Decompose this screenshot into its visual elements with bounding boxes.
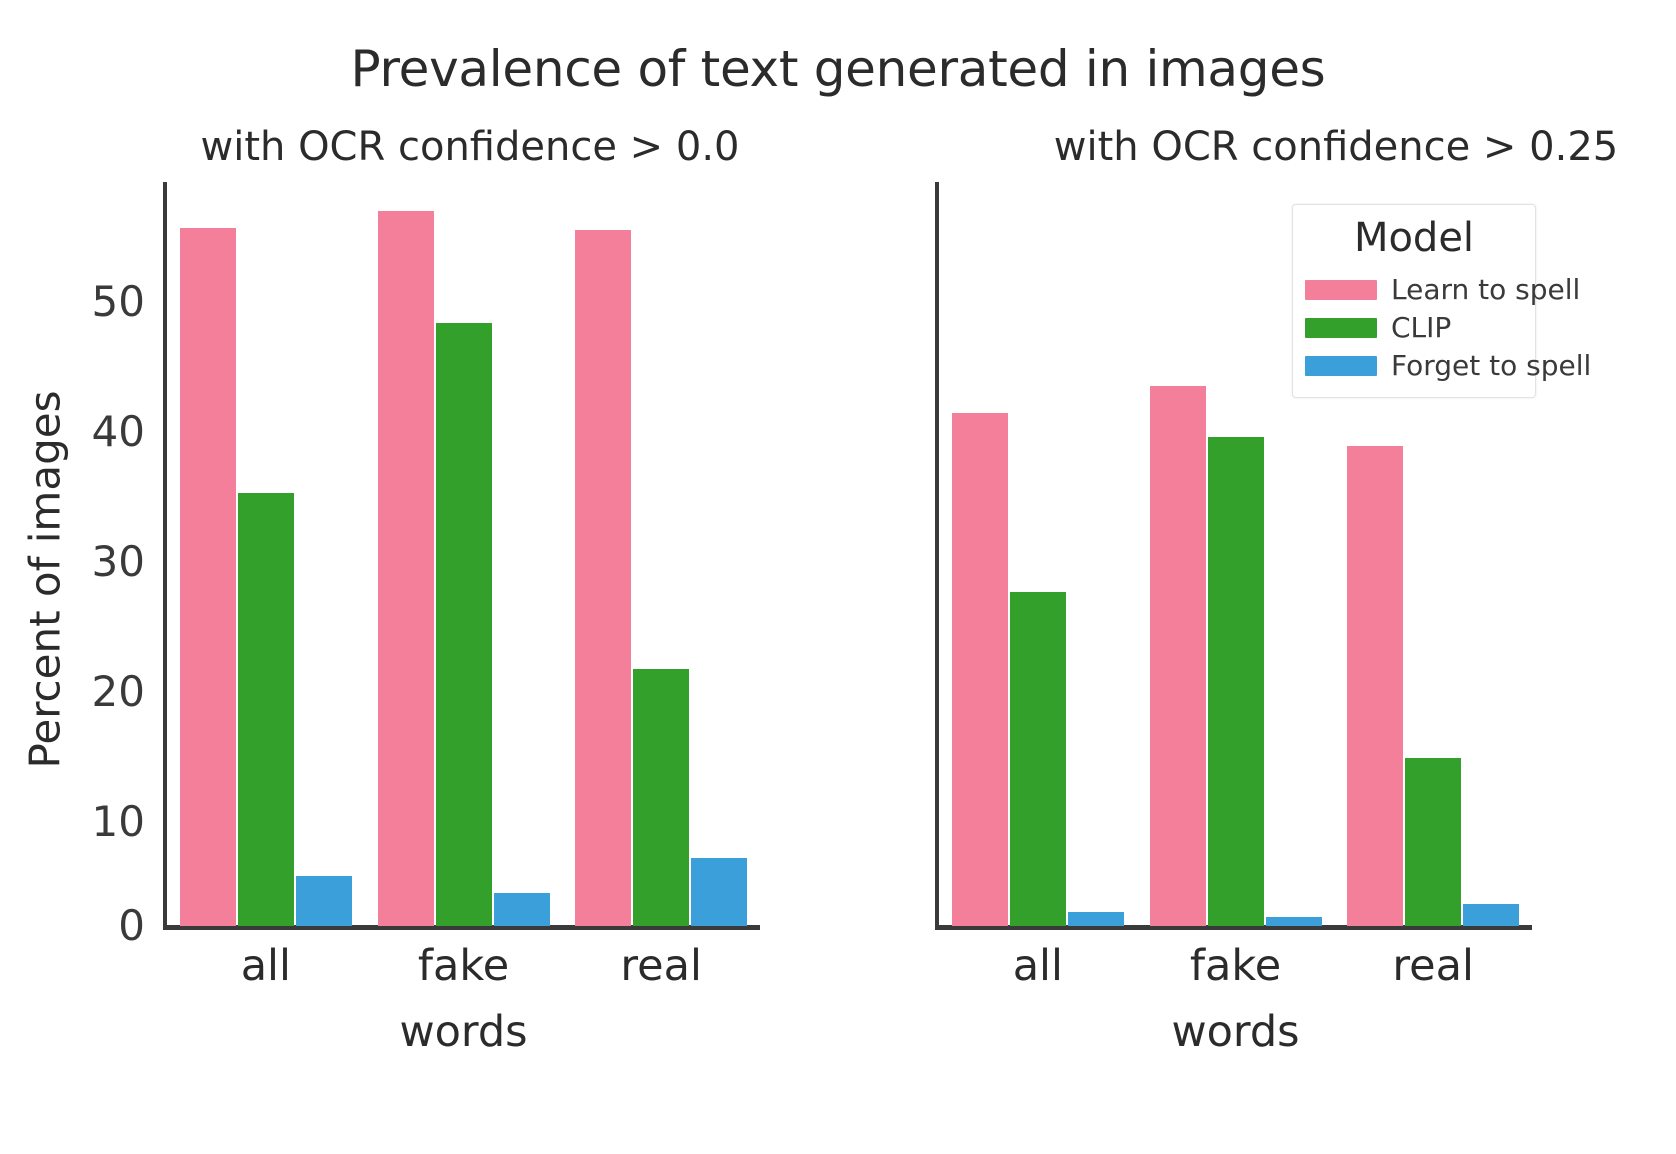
subplot-left: with OCR confidence > 0.0 50 40 30 20 10… (0, 0, 840, 1154)
x-tick-real: real (1334, 940, 1532, 992)
bar-forget-to-spell[interactable] (296, 876, 352, 926)
bar-clip[interactable] (633, 669, 689, 926)
x-tick-all: all (167, 940, 365, 992)
plot-area-left (163, 182, 760, 926)
x-axis-ticks-left: all fake real (167, 940, 760, 992)
bar-group-real (562, 182, 760, 926)
legend-label-learn-to-spell: Learn to spell (1391, 274, 1580, 306)
bar-clip[interactable] (436, 323, 492, 926)
x-axis-label-left: words (167, 1006, 760, 1058)
x-tick-all: all (939, 940, 1137, 992)
bar-group-fake (365, 182, 563, 926)
y-tick-20: 20 (92, 671, 145, 713)
bar-group-all (167, 182, 365, 926)
bar-learn-to-spell[interactable] (180, 228, 236, 926)
bar-learn-to-spell[interactable] (378, 211, 434, 926)
bar-forget-to-spell[interactable] (1266, 917, 1322, 926)
bar-learn-to-spell[interactable] (1347, 446, 1403, 926)
y-tick-0: 0 (118, 905, 145, 947)
y-tick-30: 30 (92, 541, 145, 583)
legend-swatch-learn-to-spell (1305, 280, 1377, 300)
bar-forget-to-spell[interactable] (1463, 904, 1519, 926)
bar-forget-to-spell[interactable] (1068, 912, 1124, 926)
subplot-right-subtitle: with OCR confidence > 0.25 (936, 122, 1676, 172)
legend-label-clip: CLIP (1391, 312, 1451, 344)
figure-canvas: Prevalence of text generated in images P… (0, 0, 1676, 1154)
subplot-left-subtitle: with OCR confidence > 0.0 (160, 122, 780, 172)
y-tick-50: 50 (92, 281, 145, 323)
x-tick-fake: fake (365, 940, 563, 992)
legend-item-forget-to-spell[interactable]: Forget to spell (1305, 347, 1523, 385)
legend-swatch-forget-to-spell (1305, 356, 1377, 376)
bar-clip[interactable] (1405, 758, 1461, 926)
x-axis-ticks-right: all fake real (939, 940, 1532, 992)
y-tick-10: 10 (92, 801, 145, 843)
bar-clip[interactable] (1208, 437, 1264, 926)
y-tick-40: 40 (92, 411, 145, 453)
legend-title: Model (1305, 213, 1523, 263)
bar-learn-to-spell[interactable] (1150, 386, 1206, 926)
legend-item-learn-to-spell[interactable]: Learn to spell (1305, 271, 1523, 309)
bar-forget-to-spell[interactable] (494, 893, 550, 926)
bar-clip[interactable] (238, 493, 294, 926)
subplot-right: with OCR confidence > 0.25 (836, 0, 1676, 1154)
legend-item-clip[interactable]: CLIP (1305, 309, 1523, 347)
bar-groups-left (167, 182, 760, 926)
legend-label-forget-to-spell: Forget to spell (1391, 350, 1591, 382)
bar-group-all (939, 182, 1137, 926)
bar-learn-to-spell[interactable] (952, 413, 1008, 926)
x-tick-fake: fake (1137, 940, 1335, 992)
legend-swatch-clip (1305, 318, 1377, 338)
bar-learn-to-spell[interactable] (575, 230, 631, 926)
legend: Model Learn to spell CLIP Forget to spel… (1292, 204, 1536, 398)
x-axis-label-right: words (939, 1006, 1532, 1058)
bar-forget-to-spell[interactable] (691, 858, 747, 926)
bar-clip[interactable] (1010, 592, 1066, 926)
x-tick-real: real (562, 940, 760, 992)
